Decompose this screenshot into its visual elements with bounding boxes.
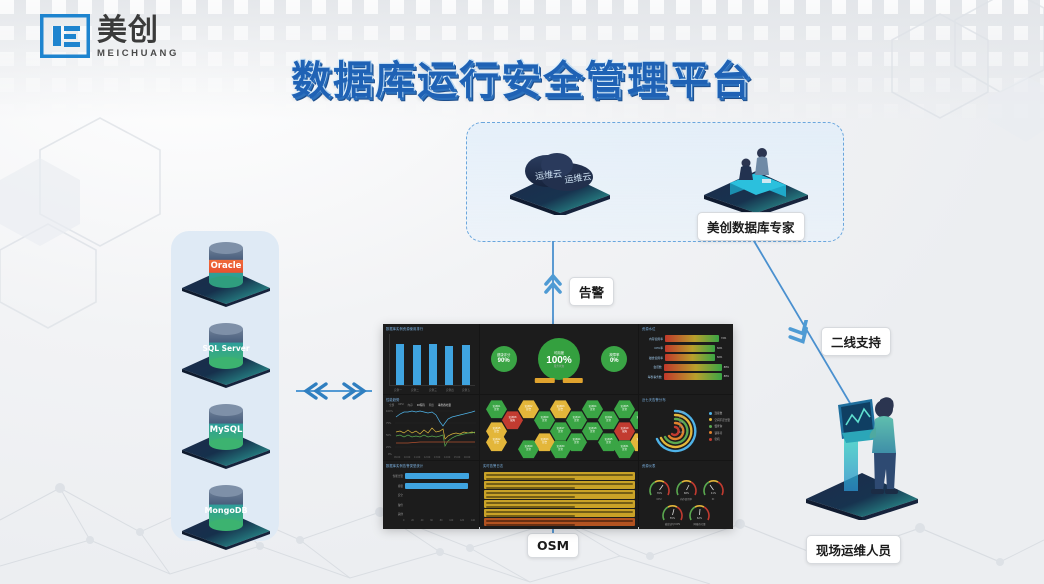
svg-text:75%: 75% <box>386 422 392 425</box>
svg-text:76%: 76% <box>656 492 662 495</box>
gradient-bar-row: 会话数 88% <box>643 364 729 371</box>
bar-item <box>462 345 470 385</box>
svg-text:12:00: 12:00 <box>424 456 431 459</box>
kpi-label: 故障率 <box>609 354 619 358</box>
logo-brand-cn: 美创 <box>97 16 179 46</box>
hex-cell[interactable]: 实例04正常 <box>582 400 603 419</box>
bar-series-resource <box>392 336 474 385</box>
gradient-bar-list: 内存使用率 72% CPU率 66% 磁盘使用率 66% 会话数 <box>641 335 731 383</box>
panel-alert-type-stats[interactable]: 数据库实例告警类型统计 性能告警 容量 安全 备份 <box>383 461 479 529</box>
database-label-oracle: Oracle <box>211 261 242 271</box>
ring-legend[interactable]: 连接数 空间不足告警 慢查询 锁等待 宕机 <box>709 411 730 441</box>
gauge-iops[interactable]: 55% 磁盘读写IOPS <box>661 502 684 525</box>
gauge-label: 网络吞吐量 <box>688 522 711 526</box>
x-tick-label: 实例五 <box>462 388 470 392</box>
x-tick: 40 <box>421 519 424 522</box>
panel-instance-resource-ranking[interactable]: 数据库实例资源使用排行 实例一 实例二 实例三 实例四 实例五 <box>383 324 479 394</box>
legend-entry[interactable]: 锁等待 <box>709 431 730 435</box>
osm-dashboard[interactable]: 数据库实例资源使用排行 实例一 实例二 实例三 实例四 实例五 健康评分 90% <box>383 324 733 527</box>
kpi-health-score[interactable]: 健康评分 90% <box>491 346 517 372</box>
database-label-mysql: MySQL <box>210 425 243 435</box>
flow-arrow-support-down <box>788 320 814 353</box>
log-row-critical[interactable] <box>484 518 635 526</box>
panel-resource-gauges[interactable]: 资源仪表 76% CPU <box>639 461 733 529</box>
row-label: 每秒事务数 <box>643 375 662 379</box>
hex-cell[interactable]: 实例03告警 <box>550 400 571 419</box>
label-field-ops: 现场运维人员 <box>806 535 901 564</box>
log-row[interactable] <box>484 472 635 480</box>
bar-item <box>413 345 421 385</box>
database-node-oracle: Oracle <box>178 236 274 308</box>
x-tick: 120 <box>460 519 464 522</box>
row-label: 安全 <box>386 493 403 497</box>
svg-text:25%: 25% <box>386 446 392 449</box>
legend-entry[interactable]: 空间不足告警 <box>709 418 730 422</box>
hbar-row: 其他 <box>386 511 475 517</box>
svg-text:0%: 0% <box>388 453 393 456</box>
bar-item <box>429 344 437 385</box>
db-expert-node <box>700 135 812 215</box>
x-tick: 80 <box>440 519 443 522</box>
x-tick-label: 实例四 <box>446 388 454 392</box>
kpi-footer-caption: 服务状态 <box>533 364 585 368</box>
x-tick: 20 <box>411 519 414 522</box>
row-label: 容量 <box>386 484 403 488</box>
kpi-failure-rate[interactable]: 故障率 0% <box>601 346 627 372</box>
row-label: 磁盘使用率 <box>643 356 663 360</box>
flow-arrow-db-to-dashboard <box>300 382 368 405</box>
svg-text:15:00: 15:00 <box>454 456 461 459</box>
svg-text:11:00: 11:00 <box>414 456 421 459</box>
ops-cloud-node: 运维云 <box>505 143 615 215</box>
svg-text:1280: 1280 <box>679 411 685 414</box>
bar-item <box>445 346 453 385</box>
x-tick-label: 实例三 <box>429 388 437 392</box>
log-row-list[interactable] <box>484 472 635 526</box>
panel-performance-trend[interactable]: 性能趋势 全部 CPU 内存 IO等待 网络 事务吞吐量 100%75% 50%… <box>383 395 479 460</box>
db-expert-label: 美创数据库专家 <box>697 212 805 241</box>
legend-label: 空间不足告警 <box>714 418 730 422</box>
row-label: 内存使用率 <box>643 337 663 341</box>
hex-cell[interactable]: 实例01正常 <box>486 400 507 419</box>
gauge-cpu[interactable]: 76% CPU <box>648 477 671 500</box>
gauge-network[interactable]: 62% 网络吞吐量 <box>688 502 711 525</box>
database-label-mongodb: MongoDB <box>204 506 247 515</box>
hex-cell[interactable]: 实例08故障 <box>502 411 523 430</box>
panel-title-resource-watermark: 资源水位 <box>642 326 656 331</box>
row-value: 88% <box>724 366 729 369</box>
log-row[interactable] <box>484 481 635 489</box>
hbar-x-axis: 0 20 40 60 80 100 120 140 <box>403 519 475 522</box>
gauge-memory[interactable]: 68% 内存使用率 <box>675 477 698 500</box>
panel-alert-distribution[interactable]: 近七天告警分布 12801020 860540120 连接数 空间不足告警 慢查… <box>639 395 733 460</box>
hex-cell[interactable]: 实例11正常 <box>598 411 619 430</box>
gauge-label: CPU <box>648 498 671 501</box>
row-label: 会话数 <box>643 365 662 369</box>
gauge-label: IO <box>702 498 725 501</box>
x-tick: 0 <box>403 519 404 522</box>
gauge-label: 磁盘读写IOPS <box>661 522 684 526</box>
hex-cell[interactable]: 实例09正常 <box>534 411 555 430</box>
kpi-chip[interactable] <box>563 378 583 383</box>
panel-resource-watermark[interactable]: 资源水位 内存使用率 72% CPU率 66% 磁盘使用率 66% <box>639 324 733 394</box>
svg-text:16:00: 16:00 <box>464 456 471 459</box>
row-value: 66% <box>717 347 722 350</box>
row-label: CPU率 <box>643 346 663 350</box>
gauge-list: 76% CPU 68% 内存使用率 <box>639 461 733 529</box>
svg-text:100%: 100% <box>386 410 394 413</box>
svg-text:62%: 62% <box>697 517 703 520</box>
kpi-value: 90% <box>498 358 510 365</box>
field-ops-node <box>800 385 924 520</box>
legend-label: 宕机 <box>714 437 719 441</box>
svg-text:68%: 68% <box>683 492 689 495</box>
svg-text:50%: 50% <box>386 434 392 437</box>
hex-cell[interactable]: 实例02告警 <box>518 400 539 419</box>
kpi-chip[interactable] <box>535 378 555 383</box>
log-row[interactable] <box>484 500 635 508</box>
kpi-label: 健康评分 <box>497 354 511 358</box>
gradient-bar-row: 内存使用率 72% <box>643 335 729 342</box>
hbar-row: 安全 <box>386 492 475 498</box>
kpi-footer: 服务状态 <box>533 364 585 388</box>
hbar-list: 性能告警 容量 安全 备份 其他 <box>386 473 475 521</box>
svg-text:860: 860 <box>679 421 684 424</box>
database-node-sqlserver: SQL Server <box>178 317 274 389</box>
log-row[interactable] <box>484 490 635 498</box>
label-osm: OSM <box>527 533 579 558</box>
legend-entry[interactable]: 慢查询 <box>709 424 730 428</box>
hex-grid[interactable]: 实例01正常 实例02告警 实例03告警 实例04正常 实例05正常 实例06正… <box>480 395 638 460</box>
hbar-row: 性能告警 <box>386 473 475 479</box>
x-tick-label: 实例一 <box>394 388 402 392</box>
panel-instance-health-hex[interactable]: 实例01正常 实例02告警 实例03告警 实例04正常 实例05正常 实例06正… <box>480 395 638 460</box>
label-alert: 告警 <box>569 277 614 306</box>
svg-text:540: 540 <box>679 426 684 429</box>
chart-x-axis <box>389 385 475 386</box>
slide-canvas: 美创 MEICHUANG 数据库运行安全管理平台 运维云 运维 <box>0 0 1044 584</box>
flow-arrow-alert-up <box>543 272 563 301</box>
line-chart-plot: 100%75% 50%25%0% 09:0010:0011:00 12:0013… <box>383 395 479 460</box>
database-node-mongodb: MongoDB <box>178 479 274 551</box>
svg-text:13:00: 13:00 <box>434 456 441 459</box>
page-title: 数据库运行安全管理平台 <box>0 48 1044 106</box>
hex-cell[interactable]: 实例05正常 <box>614 400 635 419</box>
kpi-label: 可用度 <box>554 352 564 356</box>
legend-label: 慢查询 <box>714 424 722 428</box>
hbar-row: 容量 <box>386 483 475 489</box>
panel-title-realtime-alert-log: 实时告警日志 <box>483 463 503 468</box>
x-tick: 100 <box>449 519 453 522</box>
gauge-label: 内存使用率 <box>675 497 698 501</box>
database-node-mysql: MySQL <box>178 398 274 470</box>
x-tick: 140 <box>471 519 475 522</box>
svg-text:10:00: 10:00 <box>404 456 411 459</box>
svg-text:09:00: 09:00 <box>394 456 401 459</box>
hex-cell[interactable]: 实例17正常 <box>550 422 571 441</box>
row-label: 其他 <box>386 512 403 516</box>
log-row[interactable] <box>484 509 635 517</box>
svg-text:41%: 41% <box>710 492 716 495</box>
row-value: 72% <box>721 337 726 340</box>
bar-item <box>396 344 404 385</box>
x-tick-label: 实例二 <box>411 388 419 392</box>
panel-realtime-alert-log[interactable]: 实时告警日志 <box>480 461 638 529</box>
row-label: 性能告警 <box>386 474 403 478</box>
panel-kpi-summary[interactable]: 健康评分 90% 可用度 100% 故障率 0% 服务状态 <box>480 324 638 394</box>
database-label-sqlserver: SQL Server <box>202 344 249 353</box>
legend-label: 连接数 <box>714 411 722 415</box>
x-tick: 60 <box>430 519 433 522</box>
legend-entry[interactable]: 宕机 <box>709 437 730 441</box>
svg-text:120: 120 <box>679 431 684 434</box>
gradient-bar-row: 每秒事务数 88% <box>643 373 729 380</box>
label-second-line-support: 二线支持 <box>821 327 891 356</box>
gradient-bar-row: CPU率 66% <box>643 345 729 352</box>
panel-title-instance-resource-ranking: 数据库实例资源使用排行 <box>386 326 423 331</box>
hex-cell[interactable]: 实例19故障 <box>614 422 635 441</box>
legend-label: 锁等待 <box>714 431 722 435</box>
chart-y-axis <box>389 334 390 385</box>
gradient-bar-row: 磁盘使用率 66% <box>643 354 729 361</box>
panel-title-alert-distribution: 近七天告警分布 <box>642 397 666 402</box>
svg-text:14:00: 14:00 <box>444 456 451 459</box>
svg-text:55%: 55% <box>670 517 676 520</box>
hbar-row: 备份 <box>386 502 475 508</box>
radial-ring-chart: 12801020 860540120 <box>645 407 707 455</box>
panel-title-alert-type-stats: 数据库实例告警类型统计 <box>386 463 423 468</box>
kpi-value: 0% <box>610 358 619 365</box>
hex-cell[interactable]: 实例10正常 <box>566 411 587 430</box>
hex-cell[interactable]: 实例18正常 <box>582 422 603 441</box>
legend-entry[interactable]: 连接数 <box>709 411 730 415</box>
gauge-io[interactable]: 41% IO <box>702 477 725 500</box>
row-value: 88% <box>724 375 729 378</box>
row-value: 66% <box>717 356 722 359</box>
svg-text:1020: 1020 <box>679 416 685 419</box>
row-label: 备份 <box>386 503 403 507</box>
